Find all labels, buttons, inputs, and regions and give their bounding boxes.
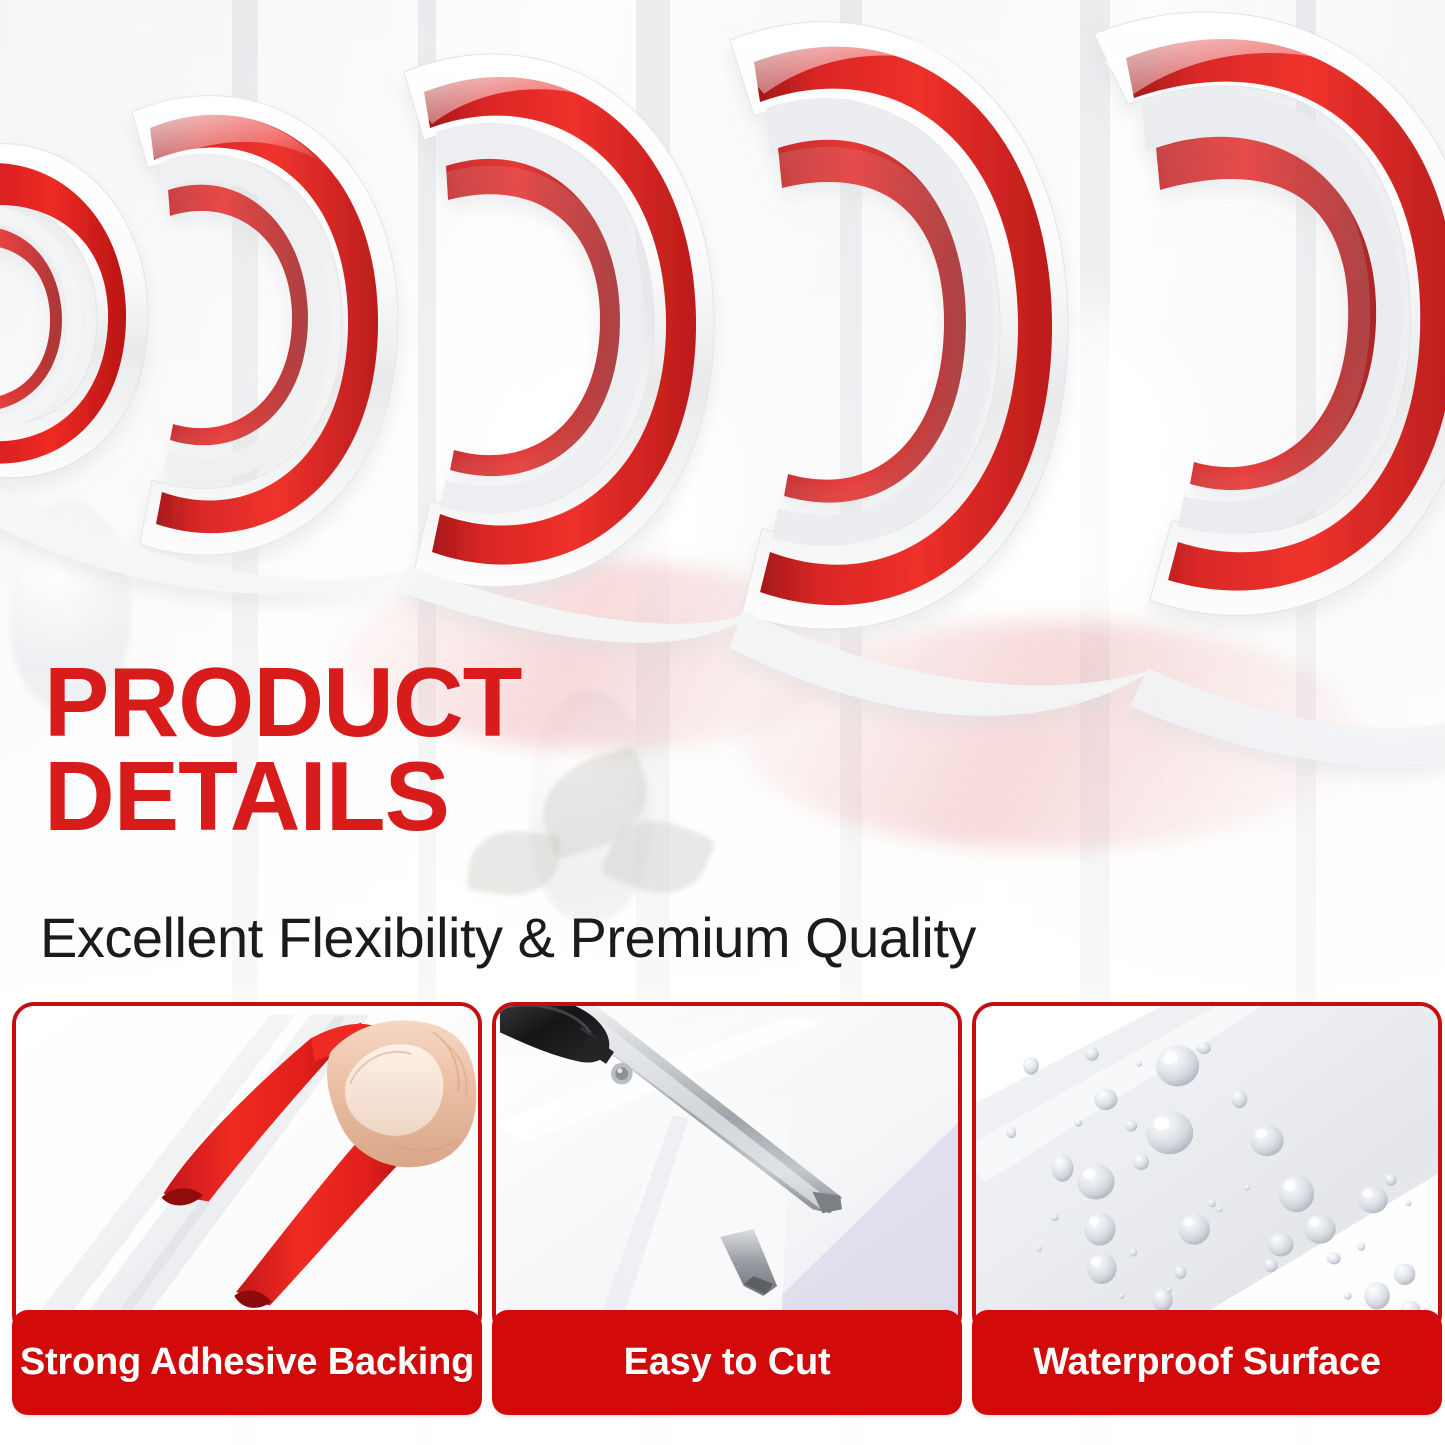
feature-caption-bar: Strong Adhesive Backing: [12, 1310, 482, 1415]
tape-coil-2: [132, 96, 398, 555]
page-subtitle: Excellent Flexibility & Premium Quality: [40, 905, 976, 970]
feature-panel: Easy to Cut: [492, 1002, 962, 1415]
feature-panel-group: Strong Adhesive Backing: [0, 1002, 1445, 1422]
feature-caption-label: Waterproof Surface: [1033, 1341, 1381, 1384]
scissors-cutting-white-tape-photo: [496, 1006, 958, 1333]
water-droplets-on-tape-photo: [976, 1006, 1438, 1333]
tape-coil-1: [0, 144, 148, 478]
feature-caption-bar: Easy to Cut: [492, 1310, 962, 1415]
feature-panel-frame: [492, 1002, 962, 1337]
feature-caption-label: Strong Adhesive Backing: [20, 1341, 474, 1384]
tape-coil-3: [404, 54, 714, 587]
feature-panel-frame: [12, 1002, 482, 1337]
product-details-infographic: PRODUCT DETAILS Excellent Flexibility & …: [0, 0, 1445, 1445]
page-title: PRODUCT DETAILS: [44, 655, 804, 843]
feature-panel: Waterproof Surface: [972, 1002, 1442, 1415]
feature-panel-frame: [972, 1002, 1442, 1337]
tape-coil-5: [1094, 12, 1445, 615]
hand-peeling-red-adhesive-liner-photo: [16, 1006, 478, 1333]
feature-caption-bar: Waterproof Surface: [972, 1310, 1442, 1415]
feature-caption-label: Easy to Cut: [624, 1341, 831, 1384]
tape-coil-4: [730, 22, 1068, 629]
page-title-line-2: DETAILS: [44, 749, 804, 843]
feature-panel: Strong Adhesive Backing: [12, 1002, 482, 1415]
